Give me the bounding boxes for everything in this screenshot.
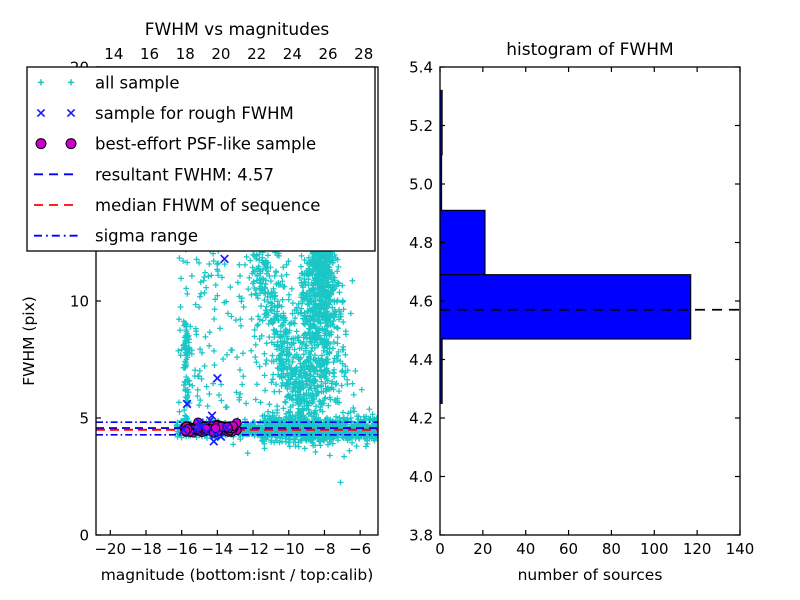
x-tick-label: 120 — [683, 540, 712, 558]
x-tick-label: −6 — [349, 540, 371, 558]
x-tick-label: −14 — [202, 540, 234, 558]
right-panel-xlabel: number of sources — [518, 566, 663, 584]
y-tick-label: 4.4 — [409, 351, 433, 369]
x-tick-label: 60 — [559, 540, 578, 558]
top-x-tick-label: 26 — [318, 45, 337, 63]
top-x-tick-label: 20 — [211, 45, 230, 63]
top-x-tick-label: 28 — [354, 45, 373, 63]
y-tick-label: 4.8 — [409, 234, 433, 252]
histogram-bars — [440, 90, 691, 403]
fwhm-vs-magnitude-panel: −20−18−16−14−12−10−8−6141618202224262805… — [0, 0, 400, 600]
x-tick-label: −16 — [166, 540, 198, 558]
y-tick-label: 5.2 — [409, 117, 433, 135]
x-tick-label: −18 — [130, 540, 162, 558]
x-tick-label: −20 — [94, 540, 126, 558]
y-tick-label: 5.4 — [409, 59, 433, 77]
x-tick-label: 0 — [435, 540, 445, 558]
y-tick-label: 5 — [79, 410, 89, 428]
y-tick-label: 5.0 — [409, 176, 433, 194]
legend-box — [27, 67, 375, 251]
histogram-bar — [440, 275, 691, 339]
left-panel-ylabel: FWHM (pix) — [20, 296, 38, 386]
x-tick-label: 40 — [516, 540, 535, 558]
x-tick-label: 80 — [602, 540, 621, 558]
right-panel-title: histogram of FWHM — [506, 40, 673, 60]
legend-item-label: sample for rough FWHM — [95, 104, 294, 123]
y-tick-label: 10 — [70, 293, 89, 311]
x-tick-label: 140 — [726, 540, 755, 558]
x-tick-label: 100 — [640, 540, 669, 558]
x-tick-label: −10 — [273, 540, 305, 558]
circle-icon — [66, 139, 76, 149]
legend-item-label: sigma range — [95, 227, 198, 246]
y-tick-label: 0 — [79, 527, 89, 545]
y-tick-label: 4.2 — [409, 410, 433, 428]
top-x-tick-label: 16 — [140, 45, 159, 63]
top-x-tick-label: 14 — [104, 45, 123, 63]
x-tick-label: −8 — [313, 540, 335, 558]
x-tick-label: −12 — [237, 540, 269, 558]
y-tick-label: 3.8 — [409, 527, 433, 545]
top-x-tick-label: 24 — [283, 45, 302, 63]
x-tick-label: 20 — [473, 540, 492, 558]
legend-item-label: median FHWM of sequence — [95, 196, 320, 215]
histogram-panel: 0204060801001201403.84.04.24.44.64.85.05… — [400, 0, 800, 600]
top-x-tick-label: 18 — [176, 45, 195, 63]
legend-item-label: best-effort PSF-like sample — [95, 135, 316, 154]
histogram-bar — [440, 210, 485, 274]
legend-item-label: all sample — [95, 73, 180, 92]
left-panel-xlabel: magnitude (bottom:isnt / top:calib) — [101, 566, 374, 584]
legend: all samplesample for rough FWHMbest-effo… — [27, 67, 375, 251]
y-tick-label: 4.6 — [409, 293, 433, 311]
top-x-tick-label: 22 — [247, 45, 266, 63]
figure-canvas: −20−18−16−14−12−10−8−6141618202224262805… — [0, 0, 800, 600]
left-panel-title: FWHM vs magnitudes — [145, 20, 330, 40]
legend-item-label: resultant FWHM: 4.57 — [95, 165, 274, 184]
y-tick-label: 4.0 — [409, 468, 433, 486]
circle-icon — [36, 139, 46, 149]
